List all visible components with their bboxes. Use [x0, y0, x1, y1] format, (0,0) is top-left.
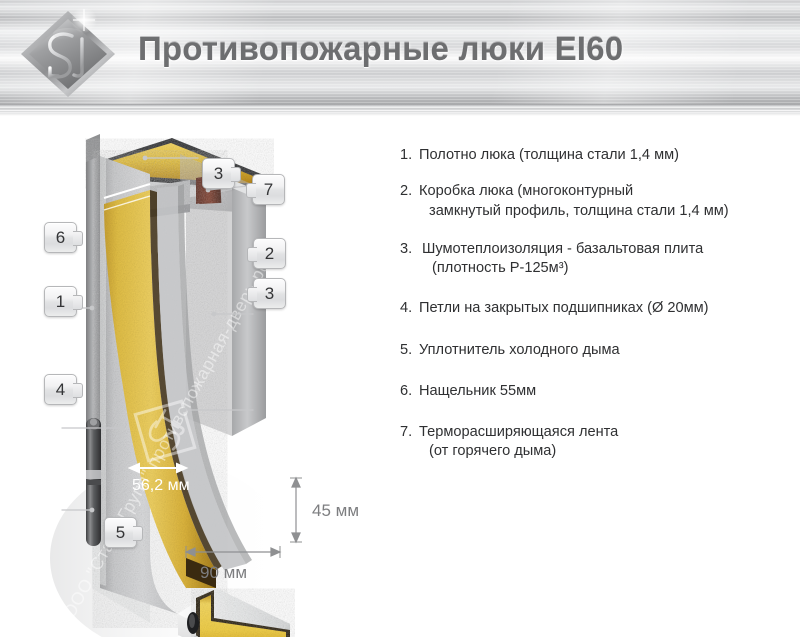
callout-tab	[231, 167, 241, 182]
legend-item-2: 2. Коробка люка (многоконтурный замкнуты…	[400, 182, 792, 221]
callout-tab	[73, 295, 83, 310]
legend-number: 6.	[400, 382, 419, 401]
callout-6[interactable]: 6	[44, 222, 77, 253]
page-title: Противопожарные люки EI60	[138, 30, 623, 68]
callout-label: 3	[214, 165, 223, 182]
legend-number: 3.	[400, 240, 422, 279]
callout-label: 2	[265, 245, 274, 262]
callout-label: 1	[56, 293, 65, 310]
callout-7[interactable]: 7	[252, 174, 285, 205]
legend-text-line2: (от горячего дыма)	[419, 442, 792, 461]
callout-2[interactable]: 2	[253, 238, 286, 269]
legend-text-line2: (плотность Р-125м³)	[422, 259, 792, 278]
callout-label: 3	[265, 285, 274, 302]
legend-number: 2.	[400, 182, 419, 221]
legend-item-6: 6. Нащельник 55мм	[400, 382, 792, 401]
page-header: Противопожарные люки EI60	[0, 0, 800, 104]
callout-label: 6	[56, 229, 65, 246]
legend-number: 1.	[400, 146, 419, 165]
legend-text-line2: замкнутый профиль, толщина стали 1,4 мм)	[419, 202, 792, 221]
legend-list: 1. Полотно люка (толщина стали 1,4 мм) 2…	[400, 146, 792, 479]
callout-label: 5	[116, 524, 125, 541]
legend-text: Петли на закрытых подшипниках (Ø 20мм)	[419, 299, 792, 318]
legend-text: Шумотеплоизоляция - базальтовая плита (п…	[422, 240, 792, 279]
legend-text: Терморасширяющаяся лента (от горячего ды…	[419, 423, 792, 462]
callout-label: 4	[56, 381, 65, 398]
dim-insulation-width-label: 56,2 мм	[132, 477, 190, 494]
legend-number: 7.	[400, 423, 419, 462]
legend-item-5: 5. Уплотнитель холодного дыма	[400, 341, 792, 360]
callout-tab	[247, 287, 257, 302]
legend-text: Уплотнитель холодного дыма	[419, 341, 792, 360]
sg-diamond-logo-icon	[16, 6, 120, 102]
callout-tab	[246, 183, 256, 198]
callout-4[interactable]: 4	[44, 374, 77, 405]
header-bottom-edge	[0, 104, 800, 114]
callout-tab	[247, 247, 257, 262]
legend-item-4: 4. Петли на закрытых подшипниках (Ø 20мм…	[400, 299, 792, 318]
legend-item-7: 7. Терморасширяющаяся лента (от горячего…	[400, 423, 792, 462]
legend-text: Полотно люка (толщина стали 1,4 мм)	[419, 146, 792, 165]
legend-text-line1: Коробка люка (многоконтурный	[419, 183, 633, 199]
legend-text-line1: Шумотеплоизоляция - базальтовая плита	[422, 241, 703, 257]
legend-text-line1: Терморасширяющаяся лента	[419, 424, 618, 440]
callout-tab	[133, 526, 143, 541]
callout-label: 7	[264, 181, 273, 198]
legend-number: 5.	[400, 341, 419, 360]
legend-text: Коробка люка (многоконтурный замкнутый п…	[419, 182, 792, 221]
legend-number: 4.	[400, 299, 419, 318]
dim-frame-height-label: 45 мм	[312, 501, 359, 520]
callout-3-middle[interactable]: 3	[253, 278, 286, 309]
dim-frame-width-label: 90 мм	[200, 563, 247, 582]
callout-tab	[73, 383, 83, 398]
callout-3-top[interactable]: 3	[202, 158, 235, 189]
legend-text: Нащельник 55мм	[419, 382, 792, 401]
callout-tab	[73, 231, 83, 246]
header-bottom-edge2	[0, 114, 800, 116]
legend-item-1: 1. Полотно люка (толщина стали 1,4 мм)	[400, 146, 792, 165]
callout-1[interactable]: 1	[44, 286, 77, 317]
callout-5[interactable]: 5	[104, 517, 137, 548]
legend-item-3: 3. Шумотеплоизоляция - базальтовая плита…	[400, 240, 792, 279]
